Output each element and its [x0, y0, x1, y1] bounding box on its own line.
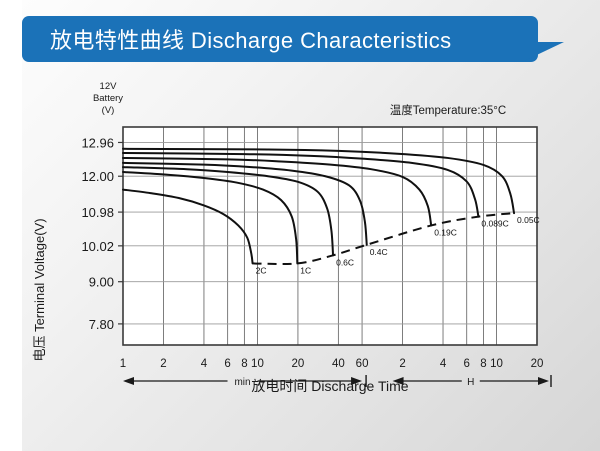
x-tick-label: 40 [332, 358, 345, 370]
discharge-chart: 2C1C0.6C0.4C0.19C0.089C0.05C 12.9612.001… [0, 62, 600, 451]
x-range-label-hour: H [467, 377, 474, 388]
chart-gridlines [123, 127, 537, 345]
x-tick-label: 60 [356, 358, 369, 370]
y-tick-label: 10.98 [81, 205, 114, 220]
x-tick-label: 8 [241, 358, 247, 370]
y-axis-title: 电压 Terminal Voltage(V) [32, 218, 47, 361]
x-tick-label: 10 [251, 358, 264, 370]
chart-svg: 2C1C0.6C0.4C0.19C0.089C0.05C 12.9612.001… [0, 62, 600, 451]
y-tick-label: 10.02 [81, 239, 114, 254]
curve-label-0.4C: 0.4C [370, 247, 388, 257]
y-tick-label: 7.80 [89, 317, 114, 332]
x-tick-label: 6 [224, 358, 230, 370]
curve-label-1C: 1C [300, 265, 311, 275]
y-tick-label: 12.00 [81, 169, 114, 184]
y-axis-ticks: 12.9612.0010.9810.029.007.80 [81, 135, 123, 331]
x-tick-label: 6 [463, 358, 469, 370]
y-axis-header-line-3: (V) [102, 105, 115, 116]
x-tick-label: 10 [490, 358, 503, 370]
x-tick-label: 4 [440, 358, 447, 370]
curve-label-2C: 2C [256, 265, 267, 275]
temperature-annotation: 温度Temperature:35°C [390, 103, 506, 117]
x-tick-label: 4 [201, 358, 208, 370]
y-axis-header-line-1: 12V [100, 81, 118, 92]
x-tick-label: 1 [120, 358, 126, 370]
x-tick-label: 8 [480, 358, 486, 370]
x-axis-title: 放电时间 Discharge Time [251, 378, 408, 394]
curve-label-0.6C: 0.6C [336, 257, 354, 267]
x-tick-label: 2 [399, 358, 405, 370]
header-banner: 放电特性曲线 Discharge Characteristics [22, 16, 578, 62]
screenshot-root: 放电特性曲线 Discharge Characteristics 2C1C0.6… [0, 0, 600, 451]
curve-label-0.19C: 0.19C [434, 228, 457, 238]
y-axis-header-line-2: Battery [93, 93, 123, 104]
page-title: 放电特性曲线 Discharge Characteristics [50, 23, 452, 55]
x-tick-label: 20 [531, 358, 544, 370]
x-range-label-min: min [234, 377, 250, 388]
x-tick-label: 20 [292, 358, 305, 370]
curve-label-0.05C: 0.05C [517, 215, 540, 225]
y-tick-label: 9.00 [89, 275, 114, 290]
banner-tail-icon [522, 42, 564, 62]
curve-label-0.089C: 0.089C [481, 219, 508, 229]
y-tick-label: 12.96 [81, 135, 114, 150]
x-axis-ticks: 124681020406024681020 [120, 358, 544, 370]
x-tick-label: 2 [160, 358, 166, 370]
